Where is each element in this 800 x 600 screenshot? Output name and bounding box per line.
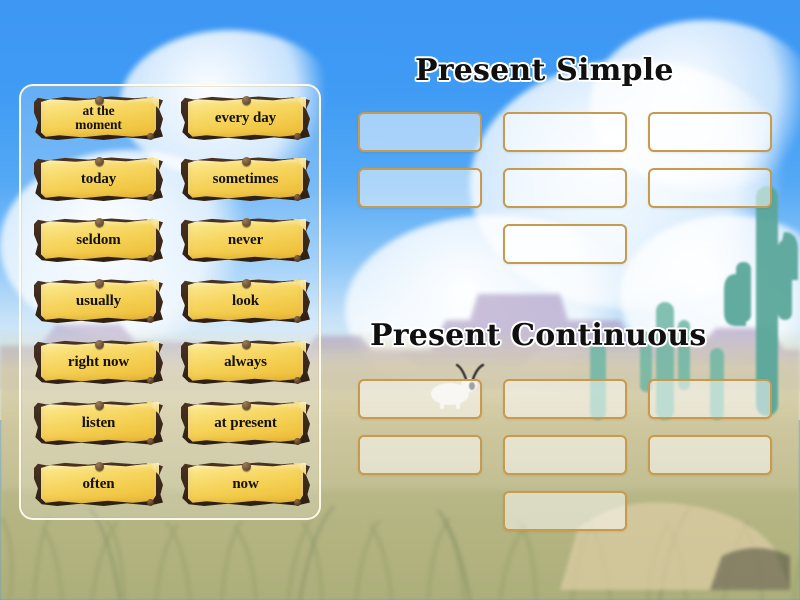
- word-card-tray: at the moment every day today: [19, 84, 321, 520]
- category-heading-present-simple: Present Simple: [415, 53, 674, 88]
- word-card-grid: at the moment every day today: [34, 95, 310, 507]
- word-card-label: at the moment: [43, 95, 154, 141]
- drop-slot[interactable]: [503, 379, 627, 419]
- slot-row: [358, 491, 778, 531]
- word-card-label: right now: [43, 339, 154, 385]
- slot-row: [358, 379, 778, 419]
- word-card-label: sometimes: [190, 156, 301, 202]
- drop-slot[interactable]: [503, 435, 627, 475]
- drop-slot[interactable]: [648, 435, 772, 475]
- drop-slot[interactable]: [648, 112, 772, 152]
- word-card-label: never: [190, 217, 301, 263]
- word-card[interactable]: never: [181, 217, 310, 263]
- drop-slot[interactable]: [503, 112, 627, 152]
- drop-slot[interactable]: [503, 491, 627, 531]
- word-card[interactable]: sometimes: [181, 156, 310, 202]
- word-card[interactable]: always: [181, 339, 310, 385]
- drop-slot[interactable]: [503, 168, 627, 208]
- word-card-label: often: [43, 461, 154, 507]
- word-card-label: today: [43, 156, 154, 202]
- drop-zone-present-simple: [358, 112, 778, 280]
- word-card[interactable]: today: [34, 156, 163, 202]
- slot-row: [358, 224, 778, 264]
- word-card-label: look: [190, 278, 301, 324]
- drop-slot[interactable]: [358, 379, 482, 419]
- drop-slot[interactable]: [358, 168, 482, 208]
- word-card[interactable]: seldom: [34, 217, 163, 263]
- word-card[interactable]: look: [181, 278, 310, 324]
- word-card[interactable]: often: [34, 461, 163, 507]
- slot-row: [358, 112, 778, 152]
- drop-slot[interactable]: [503, 224, 627, 264]
- drop-slot[interactable]: [358, 112, 482, 152]
- word-card[interactable]: right now: [34, 339, 163, 385]
- category-heading-present-continuous: Present Continuous: [370, 318, 706, 353]
- word-card-label: listen: [43, 400, 154, 446]
- word-card-label: seldom: [43, 217, 154, 263]
- word-card[interactable]: usually: [34, 278, 163, 324]
- drop-slot[interactable]: [358, 435, 482, 475]
- word-card[interactable]: now: [181, 461, 310, 507]
- drop-slot[interactable]: [648, 379, 772, 419]
- activity-stage: at the moment every day today: [0, 0, 800, 600]
- word-card-label: every day: [190, 95, 301, 141]
- word-card-label: usually: [43, 278, 154, 324]
- word-card[interactable]: at the moment: [34, 95, 163, 141]
- word-card-label: now: [190, 461, 301, 507]
- word-card-label: always: [190, 339, 301, 385]
- drop-zone-present-continuous: [358, 379, 778, 547]
- slot-row: [358, 435, 778, 475]
- word-card-label: at present: [190, 400, 301, 446]
- word-card[interactable]: every day: [181, 95, 310, 141]
- word-card[interactable]: listen: [34, 400, 163, 446]
- drop-slot[interactable]: [648, 168, 772, 208]
- word-card[interactable]: at present: [181, 400, 310, 446]
- slot-row: [358, 168, 778, 208]
